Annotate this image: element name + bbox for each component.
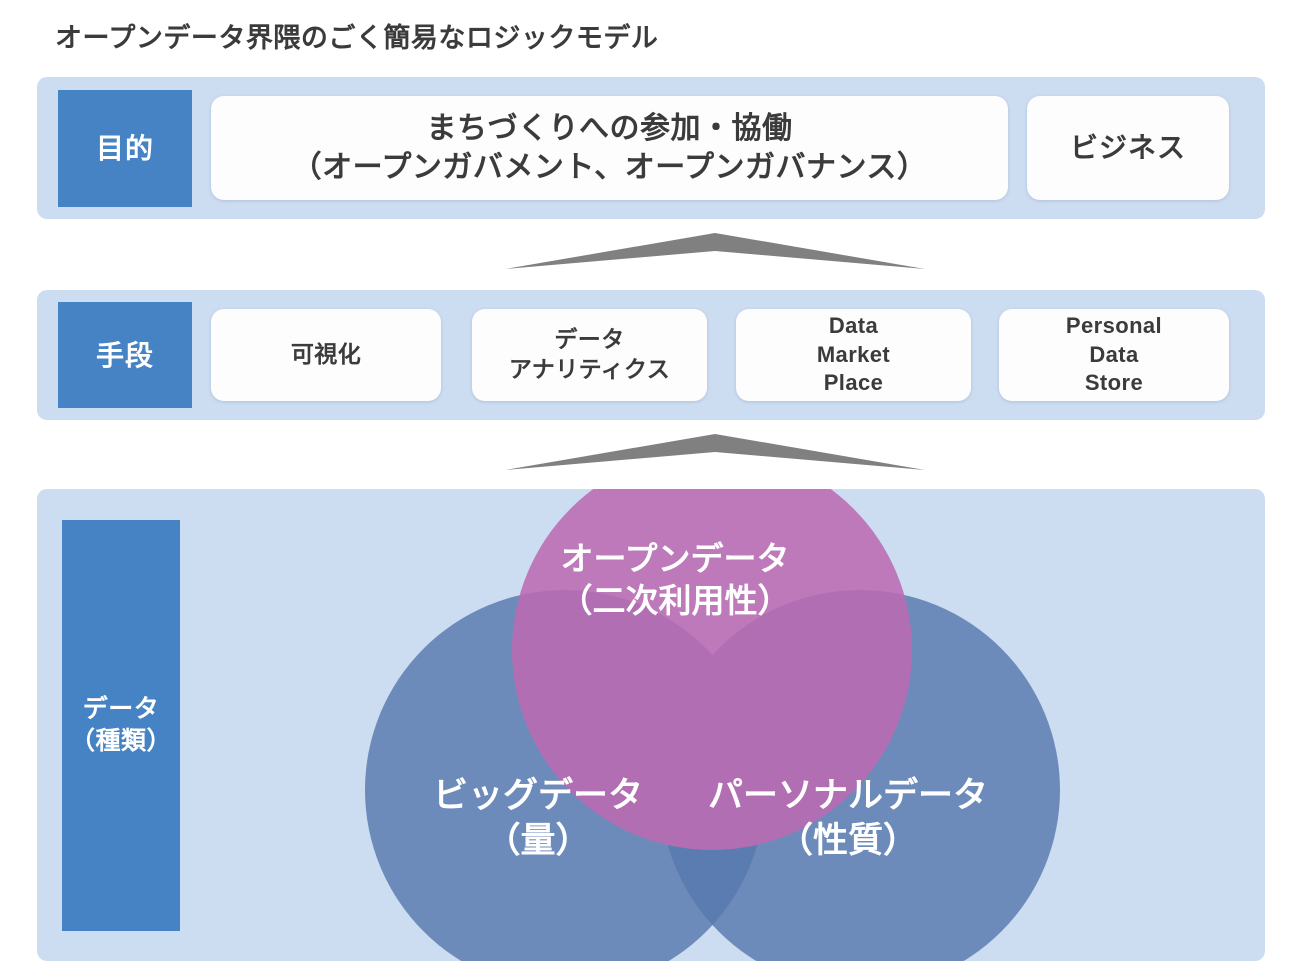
venn-label-personal-data: パーソナルデータ （性質） [648, 774, 1048, 864]
venn-label-personal-data-line-1: パーソナルデータ [648, 774, 1048, 819]
venn-label-personal-data-line-2: （性質） [648, 819, 1048, 864]
data-band: オープンデータ （二次利用性） ビッグデータ （量） パーソナルデータ （性質） [37, 489, 1265, 961]
purpose-row-label: 目的 [58, 90, 192, 207]
card-visualization-line-1: 可視化 [291, 340, 361, 370]
card-personal-data-store-line-3: Store [1066, 369, 1162, 398]
card-personal-data-store[interactable]: Personal Data Store [999, 309, 1229, 401]
card-data-market-place[interactable]: Data Market Place [736, 309, 971, 401]
arrow-means-to-purpose [505, 231, 925, 271]
card-personal-data-store-line-1: Personal [1066, 312, 1162, 341]
venn-label-open-data-line-1: オープンデータ [510, 538, 840, 580]
card-visualization[interactable]: 可視化 [211, 309, 441, 401]
card-data-market-place-line-2: Market [817, 341, 890, 370]
card-machizukuri[interactable]: まちづくりへの参加・協働 （オープンガバメント、オープンガバナンス） [211, 96, 1008, 200]
card-machizukuri-line-2: （オープンガバメント、オープンガバナンス） [292, 148, 928, 187]
card-business-label: ビジネス [1070, 130, 1186, 166]
venn-label-open-data-line-2: （二次利用性） [510, 580, 840, 622]
means-row-label: 手段 [58, 302, 192, 408]
data-row-label-line-2: （種類） [70, 726, 172, 757]
data-row-label-line-1: データ [70, 694, 172, 725]
page-title: オープンデータ界隈のごく簡易なロジックモデル [55, 16, 658, 55]
venn-label-open-data: オープンデータ （二次利用性） [510, 538, 840, 622]
card-business[interactable]: ビジネス [1027, 96, 1229, 200]
data-row-label: データ （種類） [62, 520, 180, 931]
card-personal-data-store-line-2: Data [1066, 341, 1162, 370]
card-data-analytics[interactable]: データ アナリティクス [472, 309, 707, 401]
card-data-analytics-line-1: データ [509, 325, 670, 355]
arrow-data-to-means [505, 432, 925, 472]
card-data-market-place-line-1: Data [817, 312, 890, 341]
card-data-analytics-line-2: アナリティクス [509, 355, 670, 385]
card-machizukuri-line-1: まちづくりへの参加・協働 [292, 109, 928, 148]
card-data-market-place-line-3: Place [817, 369, 890, 398]
